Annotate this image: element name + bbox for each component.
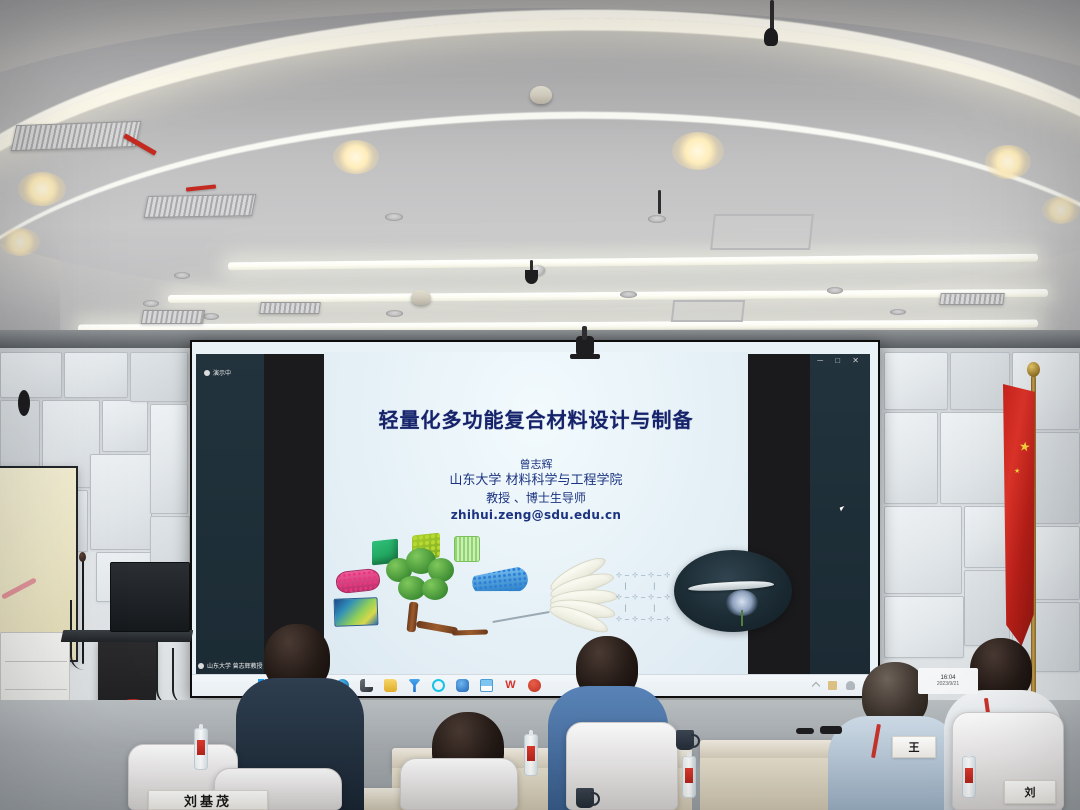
qq-icon[interactable] [432,679,445,692]
smoke-detector-1 [530,86,552,104]
downlight-5 [0,228,40,256]
remote-control[interactable] [796,728,814,734]
flag-star-small: ★ [1014,468,1020,475]
watermark-dot-icon [204,370,210,376]
flag-star-large: ★ [1018,439,1031,453]
slide-affiliation: 山东大学 材料科学与工程学院 [324,472,748,490]
window-controls[interactable]: ─ □ ✕ [817,356,864,365]
name-placard: 刘基茂 [148,790,268,810]
tree-foliage [422,578,448,600]
cloud-icon[interactable] [846,681,855,690]
wall-panel [0,352,62,398]
air-vent-1 [11,121,142,151]
microphone-head [79,552,86,562]
desktop-window-left[interactable]: 演示中 [196,354,264,674]
projector-mount-rod [582,326,587,340]
gradient-film-graphic [334,597,379,627]
photo-app-icon[interactable] [480,679,493,692]
wps-icon[interactable]: W [504,679,517,692]
wall-panel [884,412,938,504]
flush-sensor-9 [385,213,403,221]
flush-sensor-1 [386,310,403,317]
conference-room-photo: 演示中 ─ □ ✕ 轻量化多功能复合材料设计与制备 曾志辉 山东大学 材料科学与… [0,0,1080,810]
downlight-6 [1042,196,1080,224]
fiber-stem [492,611,549,623]
downlight-3 [985,145,1031,179]
coffee-mug [576,788,594,808]
vent-frame-2 [671,300,745,322]
second-display-clock: 16:04 2023/9/21 [918,668,978,694]
mouse-cursor-icon [840,505,850,512]
flush-sensor-3 [827,287,843,294]
wall-panel [964,570,1010,646]
tree-trunk [406,602,418,633]
slide-subtitle-block: 曾志辉 山东大学 材料科学与工程学院 教授 、博士生导师 zhihui.zeng… [324,457,748,523]
downlight-2 [672,132,724,170]
slide-title: 轻量化多功能复合材料设计与制备 [324,404,748,433]
clicker[interactable] [820,726,842,734]
watermark-dot-icon [198,663,204,669]
flush-sensor-6 [174,272,190,279]
flush-sensor-2 [620,291,637,298]
wall-panel [884,506,962,594]
wall-panel [950,352,1010,410]
water-bottle [962,756,976,798]
wall-panel [884,596,964,658]
clock-date: 2023/9/21 [937,682,959,688]
flush-sensor-7 [203,313,219,320]
wall-panel [102,400,148,452]
slide-email: zhihui.zeng@sdu.edu.cn [324,507,748,524]
flush-sensor-4 [890,309,906,315]
conference-chair [400,758,518,810]
smoke-detector-2 [411,290,431,305]
app-blue-icon[interactable] [456,679,469,692]
slide-canvas: 轻量化多功能复合材料设计与制备 曾志辉 山东大学 材料科学与工程学院 教授 、博… [324,352,748,674]
whiteboard-marking [1,577,37,599]
network-icon[interactable] [828,681,837,690]
wall-panel [90,454,152,550]
slide-presenter: 曾志辉 [324,457,748,472]
wall-panel [964,506,1010,568]
wall-speaker [18,390,30,416]
ceiling-speaker [764,28,778,46]
cabinet-divider [5,689,67,690]
projector-base [570,354,600,359]
downlight-4 [18,172,66,206]
pink-nanotube-graphic [335,568,381,594]
wall-panel [884,352,948,410]
name-placard: 王 [892,736,936,758]
chevron-up-icon[interactable] [812,681,820,689]
wall-panel [940,412,1010,504]
downlight-1 [333,140,379,174]
coffee-mug [676,730,694,750]
oval-photo-graphic [674,550,792,632]
vent-frame-1 [710,214,814,250]
air-vent-5 [939,293,1005,305]
chinese-national-flag [1003,384,1035,646]
ceiling-sensor-head [525,270,538,284]
water-bottle [682,756,696,798]
desktop-window-right-2[interactable]: ─ □ ✕ [810,354,870,674]
wall-panel [150,404,188,514]
air-vent-2 [141,310,205,324]
air-vent-3 [144,194,257,218]
wall-panel [130,352,188,402]
projector-rod [658,190,661,214]
air-vent-4 [259,302,321,314]
dandelion-stem [741,610,743,626]
wall-panel [64,352,128,398]
water-bottle [524,734,538,776]
pleated-block-graphic [454,536,480,562]
folder-icon[interactable] [384,679,397,692]
flush-sensor-8 [648,215,666,223]
aerogel-sample [688,580,774,592]
flag-finial [1027,362,1040,377]
thunder-icon[interactable] [408,679,421,692]
cable [172,648,186,704]
person-torso [828,716,960,810]
file-explorer-icon[interactable] [360,679,373,692]
cabinet-divider [5,661,67,662]
blue-nanocone-graphic [471,565,529,597]
slide-position: 教授 、博士生导师 [324,490,748,507]
taskbar-apps[interactable]: W [336,679,541,692]
water-bottle [194,728,208,770]
flush-sensor-5 [143,300,159,307]
desktop-watermark-bottom: 山东大学 曾志辉教授 [198,661,263,670]
laptop-lid [110,562,190,632]
powerpoint-icon[interactable] [528,679,541,692]
name-placard: 刘 [1004,780,1056,804]
tree-branch [452,629,488,635]
desktop-watermark-top: 演示中 [204,368,231,377]
